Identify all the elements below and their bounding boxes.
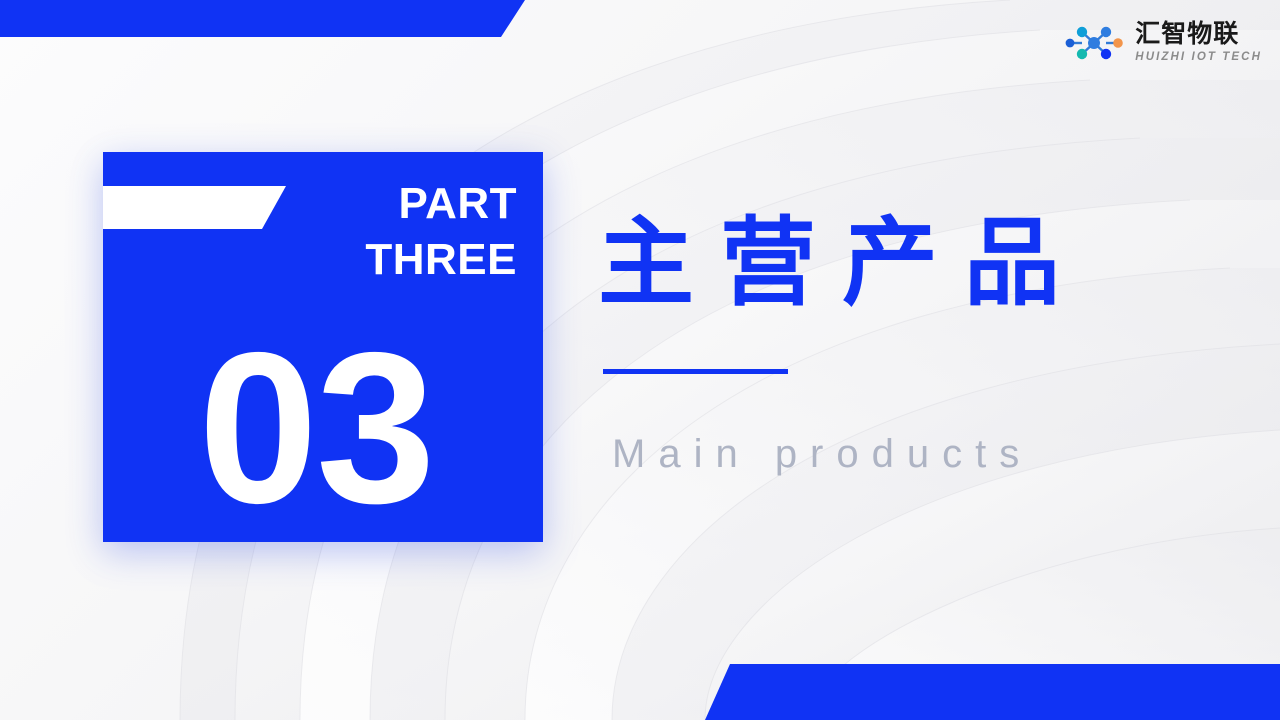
title-underline-rule — [603, 369, 788, 374]
part-label-line1: PART — [257, 176, 517, 232]
section-number-panel: PART THREE 03 — [103, 152, 543, 542]
logo-wordmark: 汇智物联 HUIZHI IOT TECH — [1135, 22, 1262, 64]
brand-logo: 汇智物联 HUIZHI IOT TECH — [1061, 22, 1262, 64]
part-label-line2: THREE — [257, 232, 517, 288]
section-number: 03 — [103, 320, 529, 535]
top-left-blue-banner — [0, 0, 525, 37]
page-title-cn: 主营产品 — [598, 214, 1086, 315]
page-subtitle-en: Main products — [612, 432, 1032, 477]
part-label: PART THREE — [257, 176, 517, 289]
logo-name-en: HUIZHI IOT TECH — [1135, 52, 1262, 64]
molecule-network-icon — [1061, 22, 1127, 64]
bottom-right-blue-banner — [705, 664, 1280, 720]
slide-canvas: PART THREE 03 主营产品 Main products 汇智物联 — [0, 0, 1280, 720]
logo-name-cn: 汇智物联 — [1135, 22, 1262, 47]
